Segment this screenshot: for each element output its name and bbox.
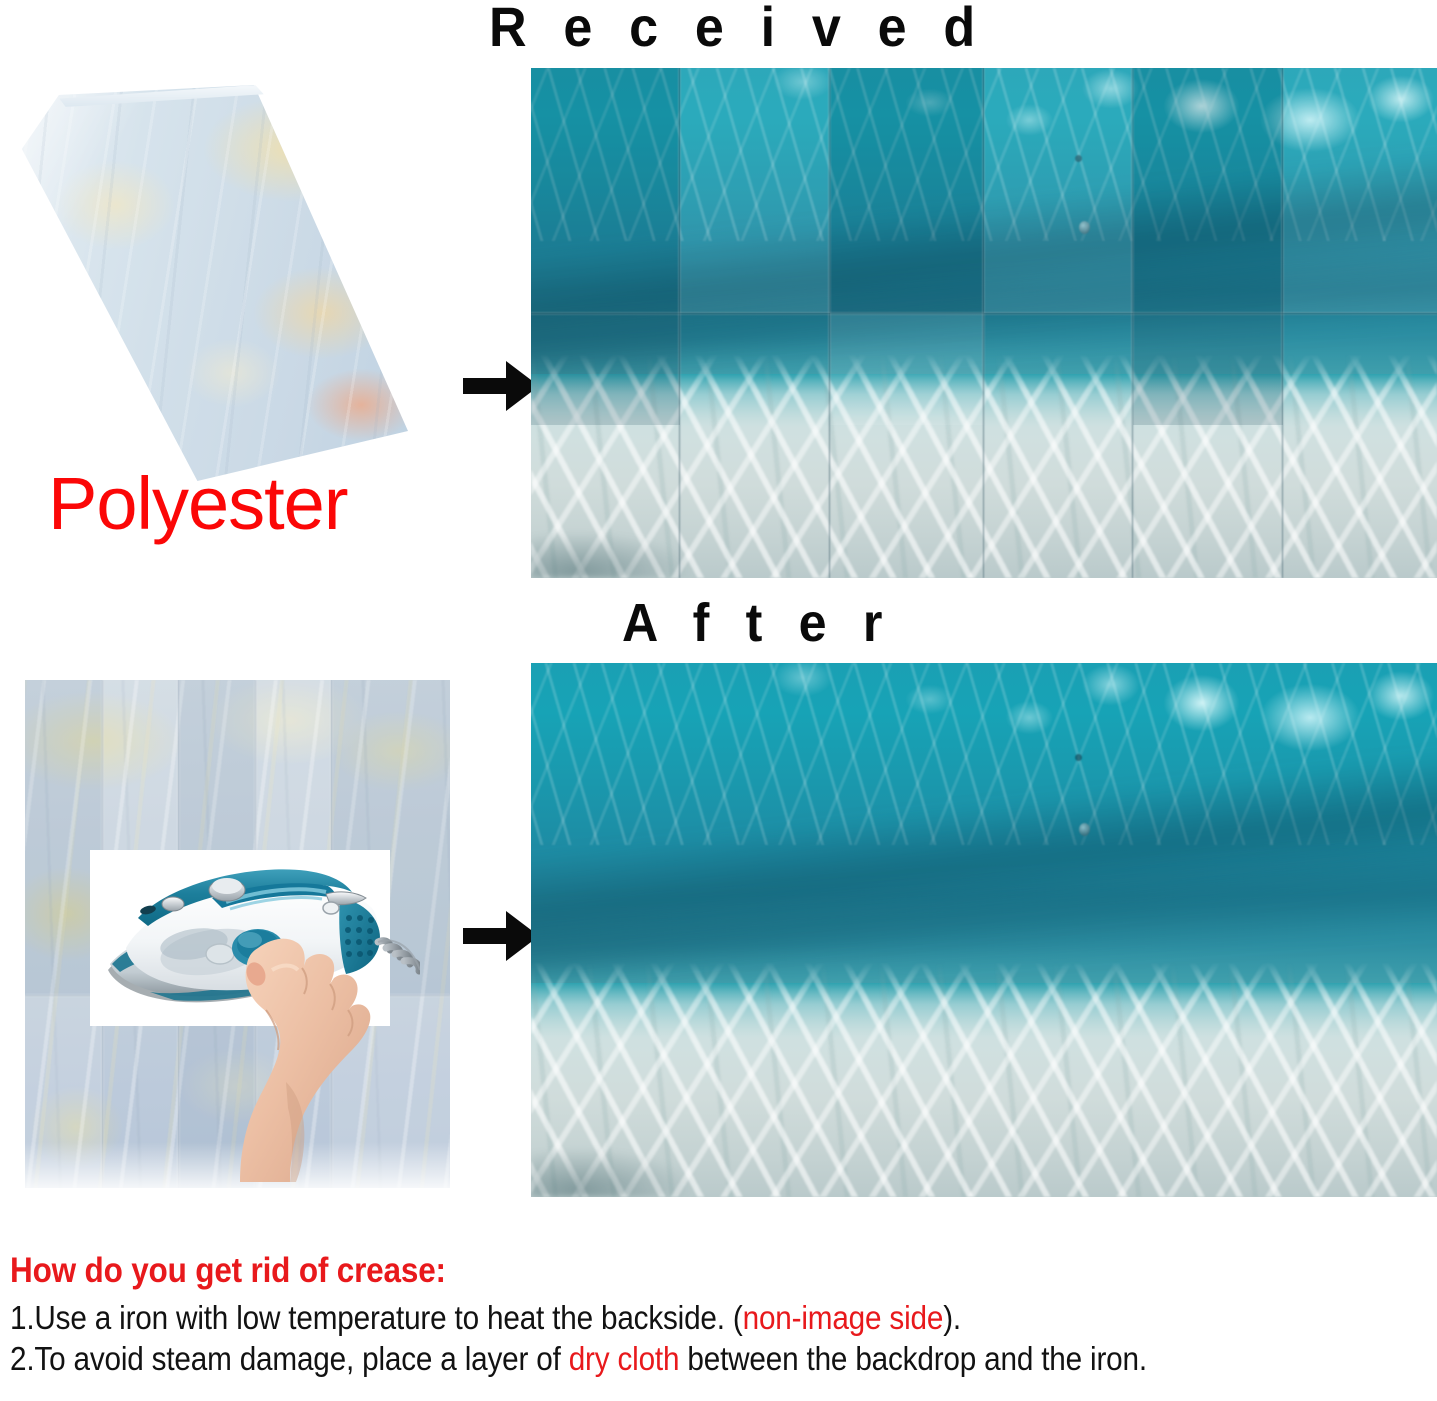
instruction-step-1: 1.Use a iron with low temperature to hea… [10, 1297, 1294, 1338]
steam-iron-in-hand-image [90, 852, 420, 1182]
arrow-right-icon [461, 907, 541, 965]
step-1-number: 1. [10, 1299, 34, 1336]
infographic-canvas: R e c e i v e d Polyester [0, 0, 1437, 1401]
step-2-highlight: dry cloth [569, 1340, 680, 1377]
polyester-material-label: Polyester [48, 461, 347, 546]
step-1-highlight: non-image side [743, 1299, 944, 1336]
step-2-text-before: To avoid steam damage, place a layer of [34, 1340, 568, 1377]
instruction-step-2: 2.To avoid steam damage, place a layer o… [10, 1338, 1294, 1379]
instructions-block: How do you get rid of crease: 1.Use a ir… [10, 1252, 1437, 1379]
instructions-title: How do you get rid of crease: [10, 1252, 1294, 1290]
received-section-title: R e c e i v e d [489, 0, 986, 59]
step-2-number: 2. [10, 1340, 34, 1377]
step-1-text-before: Use a iron with low temperature to heat … [34, 1299, 742, 1336]
rolled-polyester-fabric-image [18, 85, 408, 485]
step-1-text-after: ). [943, 1299, 961, 1336]
after-section-title: A f t e r [622, 592, 894, 654]
step-2-text-after: between the backdrop and the iron. [679, 1340, 1147, 1377]
arrow-right-icon [461, 357, 541, 415]
received-backdrop-photo [531, 68, 1437, 578]
fabric-streaks [18, 85, 408, 485]
ocean-scene [531, 68, 1437, 578]
after-backdrop-photo [531, 663, 1437, 1197]
ocean-scene-smooth [531, 663, 1437, 1197]
